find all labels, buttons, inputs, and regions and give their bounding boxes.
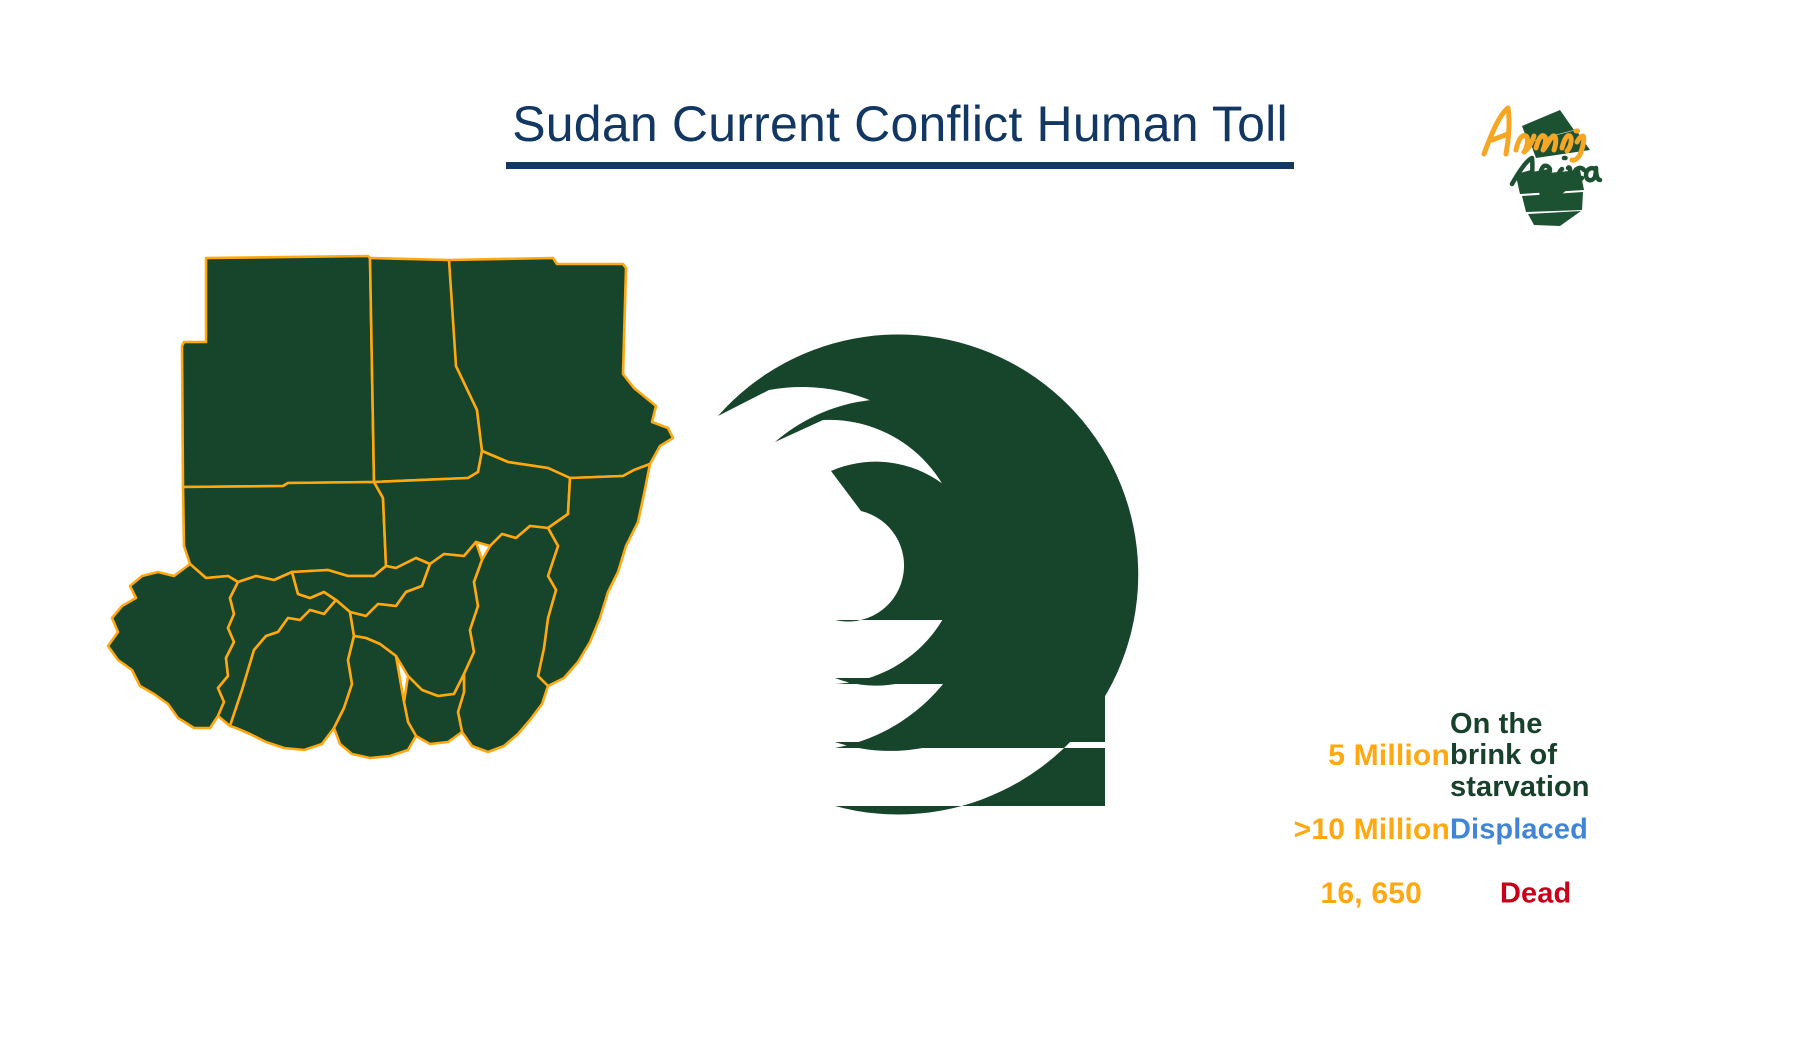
stat-label-starvation: On the brink of starvation (1450, 709, 1590, 803)
page-title: Sudan Current Conflict Human Toll (506, 96, 1294, 169)
stat-label-dead: Dead (1500, 878, 1571, 909)
radial-bars-chart (775, 296, 1105, 806)
sudan-map (78, 246, 768, 806)
sudan-states (108, 256, 673, 758)
stat-value-displaced: >10 Million (1120, 813, 1450, 847)
stat-value-dead: 16, 650 (1120, 877, 1450, 911)
stat-label-displaced: Displaced (1450, 814, 1588, 845)
stat-value-starvation: 5 Million (1120, 739, 1450, 773)
amani-africa-logo (1478, 98, 1638, 228)
